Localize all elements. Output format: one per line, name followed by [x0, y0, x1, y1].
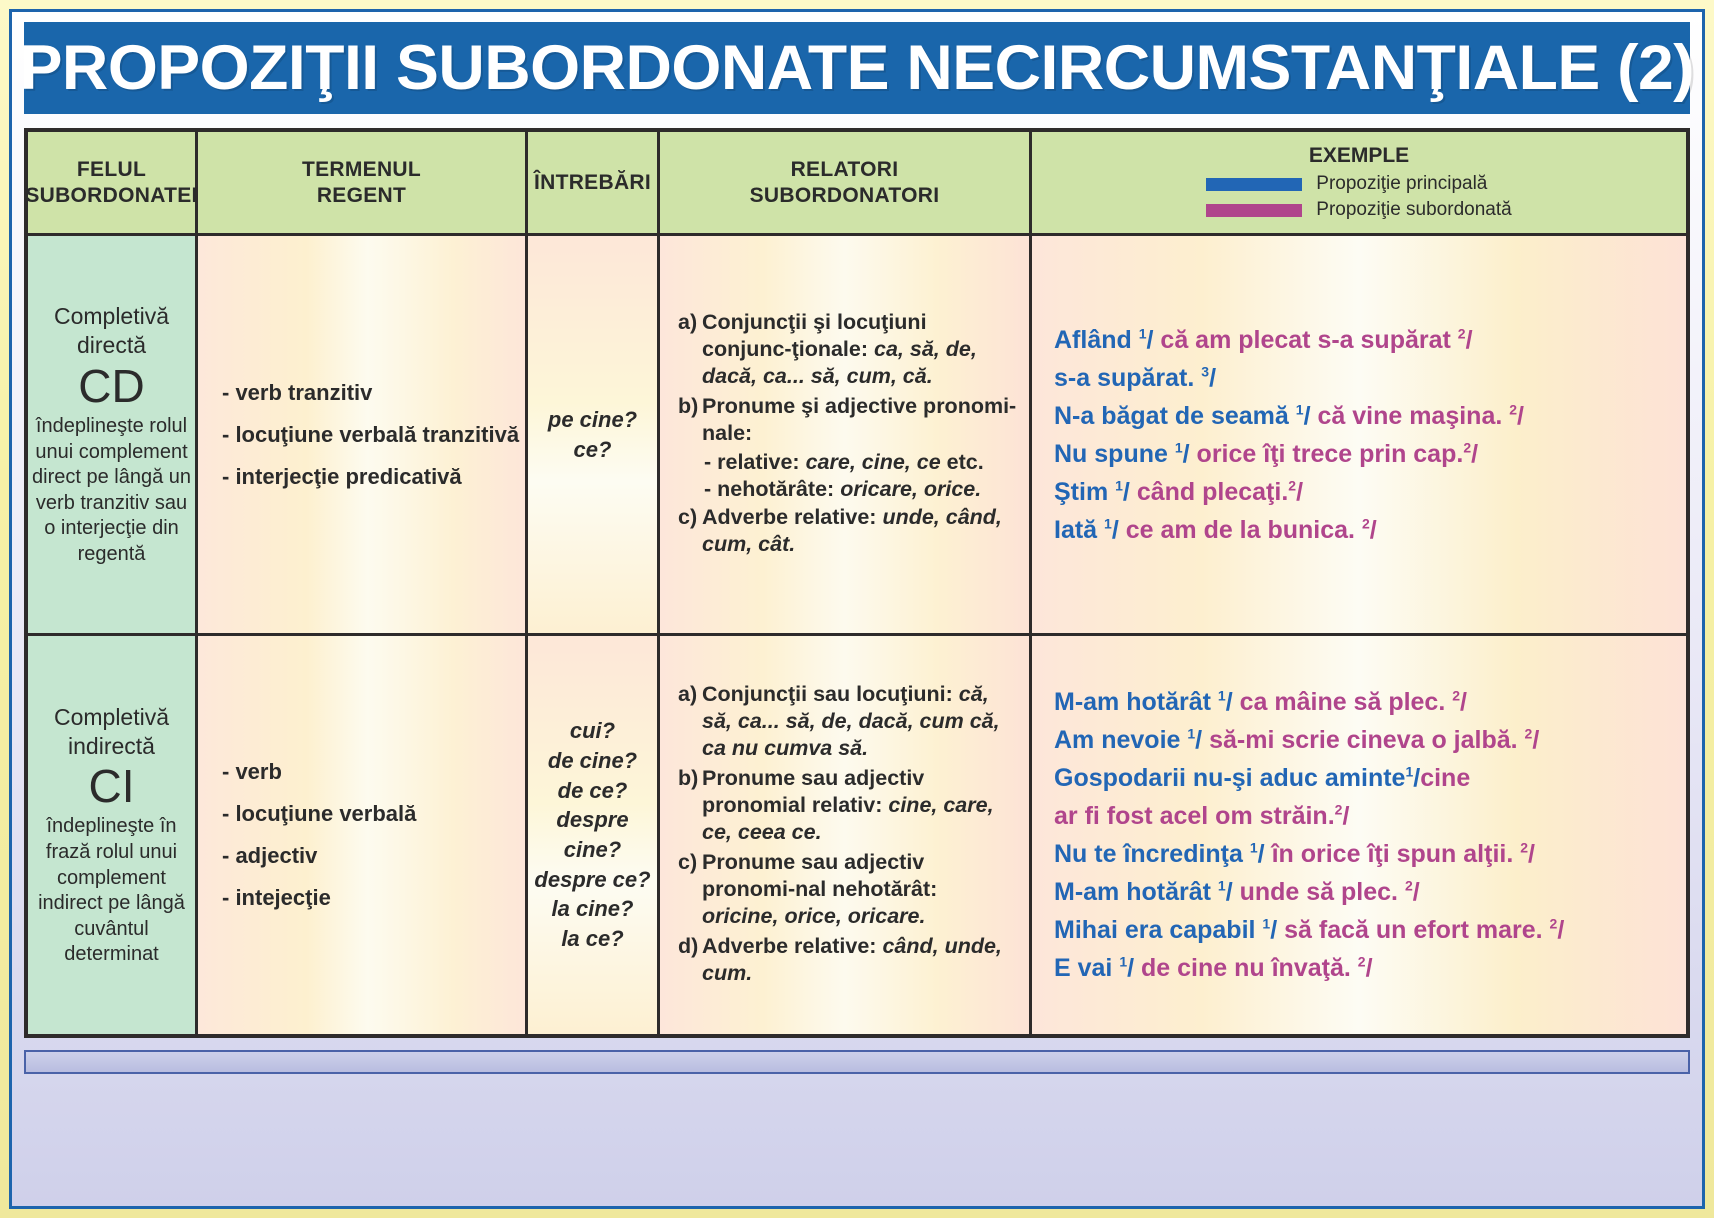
regent-item: - locuţiune verbală tranzitivă [222, 422, 519, 448]
header-label-intrebari: ÎNTREBĂRI [534, 170, 651, 196]
relator-text: Pronume sau adjectiv pronomial relativ: … [702, 765, 1019, 847]
relator-text: Pronume sau adjectiv pronomi-nal nehotăr… [702, 849, 1019, 931]
legend-item: Propoziţie subordonată [1206, 199, 1511, 221]
legend-label: Propoziţie principală [1316, 173, 1487, 195]
relator-text: - nehotărâte: oricare, orice. [704, 477, 981, 501]
subordinate-abbreviation: CI [32, 762, 191, 810]
clause-subordonata: / [1366, 954, 1373, 982]
example-line: M-am hotărât 1/ unde să plec. 2/ [1054, 873, 1564, 911]
cell-termenul-regent: - verb tranzitiv- locuţiune verbală tran… [198, 236, 528, 633]
header-label-regent: REGENT [302, 183, 421, 209]
example-line: s-a supărat. 3/ [1054, 359, 1524, 397]
relator-marker: c) [678, 849, 702, 931]
subordinate-name: Completivăindirectă [54, 704, 169, 759]
relator-marker: d) [678, 933, 702, 988]
clause-principala: M-am hotărât [1054, 878, 1218, 906]
clause-subordonata: ca mâine să plec. [1240, 688, 1453, 716]
example-line: E vai 1/ de cine nu învaţă. 2/ [1054, 949, 1564, 987]
cell-relatori-subordonatori: a)Conjuncţii sau locuţiuni: că, să, ca..… [660, 636, 1032, 1034]
clause-number: 1 [1250, 840, 1258, 856]
clause-principala: / [1226, 878, 1240, 906]
relator-item: c)Adverbe relative: unde, când, cum, cât… [678, 504, 1019, 559]
clause-subordonata: unde să plec. [1240, 878, 1405, 906]
example-line: Iată 1/ ce am de la bunica. 2/ [1054, 511, 1524, 549]
relator-item: b)Pronume şi adjective pronomi-nale: [678, 393, 1019, 448]
clause-subordonata: în orice îţi spun alţii. [1272, 840, 1521, 868]
regent-item: - interjecţie predicativă [222, 464, 519, 490]
clause-number: 1 [1218, 688, 1226, 704]
question-item: cui? [528, 716, 657, 746]
relator-item: - nehotărâte: oricare, orice. [678, 476, 1019, 503]
title-bar: PROPOZIŢII SUBORDONATE NECIRCUMSTANŢIALE… [24, 22, 1690, 114]
relator-text: Conjuncţii sau locuţiuni: că, să, ca... … [702, 681, 1019, 763]
relator-item: d)Adverbe relative: când, unde, cum. [678, 933, 1019, 988]
question-item: despre cine? [528, 805, 657, 864]
clause-principala: Nu spune [1054, 440, 1175, 468]
clause-subordonata: / [1460, 688, 1467, 716]
relator-item: a)Conjuncţii şi locuţiuni conjunc-ţional… [678, 309, 1019, 391]
example-line: Nu spune 1/ orice îţi trece prin cap.2/ [1054, 435, 1524, 473]
clause-principala: N-a băgat de seamă [1054, 402, 1296, 430]
regent-item: - verb tranzitiv [222, 380, 519, 406]
clause-number: 2 [1405, 878, 1413, 894]
clause-principala: s-a supărat. [1054, 364, 1201, 392]
question-item: de cine? [528, 746, 657, 776]
clause-number: 2 [1520, 840, 1528, 856]
table-header-row: FELUL SUBORDONATEI TERMENUL REGENT ÎNTRE… [28, 132, 1686, 236]
subordinate-description: îndeplineşte rolul unui complement direc… [32, 415, 191, 565]
poster: PROPOZIŢII SUBORDONATE NECIRCUMSTANŢIALE… [0, 0, 1714, 1218]
clause-number: 1 [1187, 726, 1195, 742]
clause-subordonata: ar fi fost acel om străin. [1054, 802, 1335, 830]
clause-subordonata: că vine maşina. [1317, 402, 1509, 430]
relator-item: c)Pronume sau adjectiv pronomi-nal nehot… [678, 849, 1019, 931]
clause-principala: M-am hotărât [1054, 688, 1218, 716]
example-line: Mihai era capabil 1/ să facă un efort ma… [1054, 911, 1564, 949]
clause-principala: Am nevoie [1054, 726, 1187, 754]
cell-relatori-subordonatori: a)Conjuncţii şi locuţiuni conjunc-ţional… [660, 236, 1032, 633]
header-cell-relatori-subordonatori: RELATORI SUBORDONATORI [660, 132, 1032, 233]
clause-subordonata: să facă un efort mare. [1284, 916, 1549, 944]
cell-termenul-regent: - verb- locuţiune verbală- adjectiv- int… [198, 636, 528, 1034]
header-cell-felul-subordonatei: FELUL SUBORDONATEI [28, 132, 198, 233]
example-line: Gospodarii nu-şi aduc aminte1/cine [1054, 759, 1564, 797]
clause-number: 1 [1175, 439, 1183, 455]
clause-number: 2 [1358, 954, 1366, 970]
clause-subordonata: / [1517, 402, 1524, 430]
legend-swatch-subordonata [1206, 204, 1302, 217]
table-row: CompletivădirectăCDîndeplineşte rolul un… [28, 236, 1686, 636]
question-item: ce? [548, 435, 637, 465]
header-label-subordonatori: SUBORDONATORI [750, 183, 940, 209]
clause-subordonata: ce am de la bunica. [1126, 516, 1362, 544]
bottom-decorative-strip [24, 1050, 1690, 1074]
clause-subordonata: / [1413, 878, 1420, 906]
clause-number: 2 [1463, 439, 1471, 455]
clause-number: 2 [1452, 688, 1460, 704]
header-label-relatori: RELATORI [750, 157, 940, 183]
clause-principala: / [1147, 326, 1161, 354]
clause-principala: / [1258, 840, 1272, 868]
clause-number: 1 [1119, 954, 1127, 970]
question-item: de ce? [528, 776, 657, 806]
example-line: M-am hotărât 1/ ca mâine să plec. 2/ [1054, 683, 1564, 721]
clause-principala: / [1270, 916, 1284, 944]
clause-subordonata: / [1528, 840, 1535, 868]
relator-text: - relative: care, cine, ce etc. [704, 450, 984, 474]
relator-marker: b) [678, 765, 702, 847]
clause-principala: / [1183, 440, 1197, 468]
relator-item: b)Pronume sau adjectiv pronomial relativ… [678, 765, 1019, 847]
question-item: despre ce? [528, 865, 657, 895]
clause-subordonata: / [1466, 326, 1473, 354]
header-label-exemple: EXEMPLE [1309, 144, 1409, 168]
clause-number: 2 [1362, 515, 1370, 531]
clause-subordonata: / [1296, 478, 1303, 506]
clause-principala: Gospodarii nu-şi aduc aminte [1054, 764, 1405, 792]
clause-principala: E vai [1054, 954, 1119, 982]
relator-marker: a) [678, 681, 702, 763]
clause-subordonata: când plecaţi. [1137, 478, 1288, 506]
clause-principala: Nu te încredinţa [1054, 840, 1250, 868]
legend-label: Propoziţie subordonată [1316, 199, 1511, 221]
table-row: CompletivăindirectăCIîndeplineşte în fra… [28, 636, 1686, 1034]
cell-intrebari: cui?de cine?de ce?despre cine?despre ce?… [528, 636, 660, 1034]
clause-number: 1 [1139, 325, 1147, 341]
relator-text: Conjuncţii şi locuţiuni conjunc-ţionale:… [702, 309, 1019, 391]
relator-marker: a) [678, 309, 702, 391]
clause-subordonata: orice îţi trece prin cap. [1197, 440, 1464, 468]
legend: Propoziţie principalăPropoziţie subordon… [1206, 173, 1511, 221]
page-title: PROPOZIŢII SUBORDONATE NECIRCUMSTANŢIALE… [20, 32, 1694, 104]
relator-text: Pronume şi adjective pronomi-nale: [702, 393, 1019, 448]
header-label-subordonatei: SUBORDONATEI [25, 183, 197, 209]
clause-principala: / [1304, 402, 1318, 430]
relator-marker: b) [678, 393, 702, 448]
clause-subordonata: / [1471, 440, 1478, 468]
clause-subordonata: / [1370, 516, 1377, 544]
clause-number: 1 [1218, 878, 1226, 894]
example-line: Nu te încredinţa 1/ în orice îţi spun al… [1054, 835, 1564, 873]
table-body: CompletivădirectăCDîndeplineşte rolul un… [28, 236, 1686, 1034]
clause-principala: Mihai era capabil [1054, 916, 1262, 944]
question-item: la ce? [528, 924, 657, 954]
clause-number: 2 [1458, 325, 1466, 341]
subordinate-abbreviation: CD [32, 362, 191, 410]
clause-subordonata: să-mi scrie cineva o jalbă. [1209, 726, 1524, 754]
example-line: Am nevoie 1/ să-mi scrie cineva o jalbă.… [1054, 721, 1564, 759]
clause-principala: / [1226, 688, 1240, 716]
cell-felul-subordonatei: CompletivăindirectăCIîndeplineşte în fra… [28, 636, 198, 1034]
clause-subordonata: / [1342, 802, 1349, 830]
clause-principala: / [1123, 478, 1137, 506]
grammar-table: FELUL SUBORDONATEI TERMENUL REGENT ÎNTRE… [24, 128, 1690, 1038]
clause-principala: Iată [1054, 516, 1104, 544]
header-label-termenul: TERMENUL [302, 157, 421, 183]
question-item: pe cine? [548, 405, 637, 435]
clause-number: 2 [1288, 477, 1296, 493]
example-line: Aflând 1/ că am plecat s-a supărat 2/ [1054, 321, 1524, 359]
clause-number: 1 [1115, 477, 1123, 493]
clause-number: 1 [1104, 515, 1112, 531]
clause-principala: Ştim [1054, 478, 1115, 506]
subordinate-description: îndeplineşte în frază rolul unui complem… [38, 815, 185, 965]
legend-item: Propoziţie principală [1206, 173, 1511, 195]
example-line: ar fi fost acel om străin.2/ [1054, 797, 1564, 835]
relator-marker: c) [678, 504, 702, 559]
cell-felul-subordonatei: CompletivădirectăCDîndeplineşte rolul un… [28, 236, 198, 633]
clause-subordonata: că am plecat s-a supărat [1160, 326, 1457, 354]
clause-subordonata: de cine nu învaţă. [1141, 954, 1358, 982]
cell-intrebari: pe cine?ce? [528, 236, 660, 633]
question-item: la cine? [528, 894, 657, 924]
regent-item: - locuţiune verbală [222, 801, 416, 827]
header-cell-exemple: EXEMPLE Propoziţie principalăPropoziţie … [1032, 132, 1686, 233]
clause-principala: / [1112, 516, 1126, 544]
cell-exemple: M-am hotărât 1/ ca mâine să plec. 2/Am n… [1032, 636, 1686, 1034]
example-line: N-a băgat de seamă 1/ că vine maşina. 2/ [1054, 397, 1524, 435]
regent-item: - intejecţie [222, 885, 416, 911]
relator-item: a)Conjuncţii sau locuţiuni: că, să, ca..… [678, 681, 1019, 763]
clause-number: 3 [1201, 363, 1209, 379]
clause-subordonata: cine [1420, 764, 1470, 792]
clause-number: 2 [1509, 401, 1517, 417]
poster-inner-frame: PROPOZIŢII SUBORDONATE NECIRCUMSTANŢIALE… [9, 9, 1705, 1209]
cell-exemple: Aflând 1/ că am plecat s-a supărat 2/s-a… [1032, 236, 1686, 633]
relator-item: - relative: care, cine, ce etc. [678, 449, 1019, 476]
regent-item: - adjectiv [222, 843, 416, 869]
clause-subordonata: / [1557, 916, 1564, 944]
clause-principala: / [1209, 364, 1216, 392]
example-line: Ştim 1/ când plecaţi.2/ [1054, 473, 1524, 511]
relator-text: Adverbe relative: când, unde, cum. [702, 933, 1019, 988]
clause-principala: / [1195, 726, 1209, 754]
clause-principala: Aflând [1054, 326, 1139, 354]
clause-number: 1 [1296, 401, 1304, 417]
header-label-felul: FELUL [25, 157, 197, 183]
clause-subordonata: / [1532, 726, 1539, 754]
header-cell-termenul-regent: TERMENUL REGENT [198, 132, 528, 233]
regent-item: - verb [222, 759, 416, 785]
subordinate-name: Completivădirectă [54, 303, 169, 358]
relator-text: Adverbe relative: unde, când, cum, cât. [702, 504, 1019, 559]
legend-swatch-principala [1206, 178, 1302, 191]
header-cell-intrebari: ÎNTREBĂRI [528, 132, 660, 233]
clause-principala: / [1127, 954, 1141, 982]
